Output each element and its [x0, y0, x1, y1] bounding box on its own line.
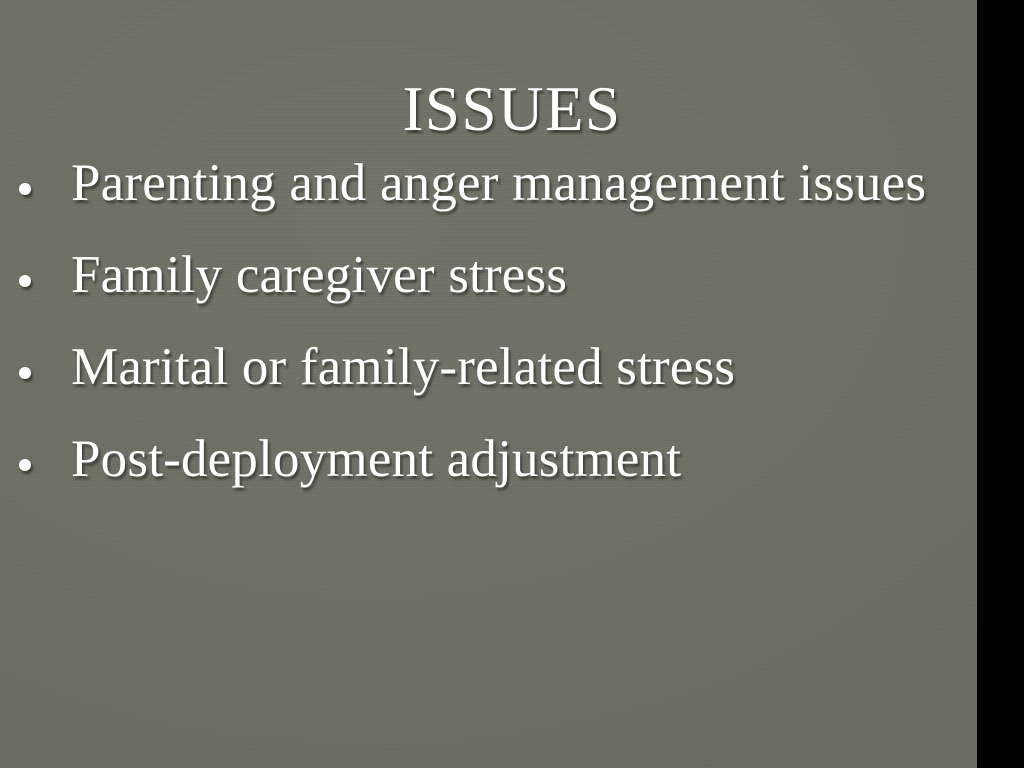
- bullet-item-label: Parenting and anger management issues: [71, 155, 926, 211]
- bullet-item: Marital or family-related stress: [0, 339, 977, 431]
- bullet-item-label: Post-deployment adjustment: [71, 431, 681, 487]
- bullet-list: Parenting and anger management issues Fa…: [0, 155, 977, 523]
- bullet-item-label: Family caregiver stress: [71, 247, 567, 303]
- bullet-dot-icon: [19, 275, 31, 287]
- letterbox-bar-right: [977, 0, 1024, 768]
- bullet-item-label: Marital or family-related stress: [71, 339, 735, 395]
- bullet-dot-icon: [19, 459, 31, 471]
- bullet-item: Parenting and anger management issues: [0, 155, 977, 247]
- bullet-dot-icon: [19, 183, 31, 195]
- bullet-dot-icon: [19, 367, 31, 379]
- slide-root: ISSUES Parenting and anger management is…: [0, 0, 1024, 768]
- slide-title: ISSUES: [0, 78, 977, 141]
- bullet-item: Family caregiver stress: [0, 247, 977, 339]
- slide-canvas: ISSUES Parenting and anger management is…: [0, 0, 977, 768]
- bullet-item: Post-deployment adjustment: [0, 431, 977, 523]
